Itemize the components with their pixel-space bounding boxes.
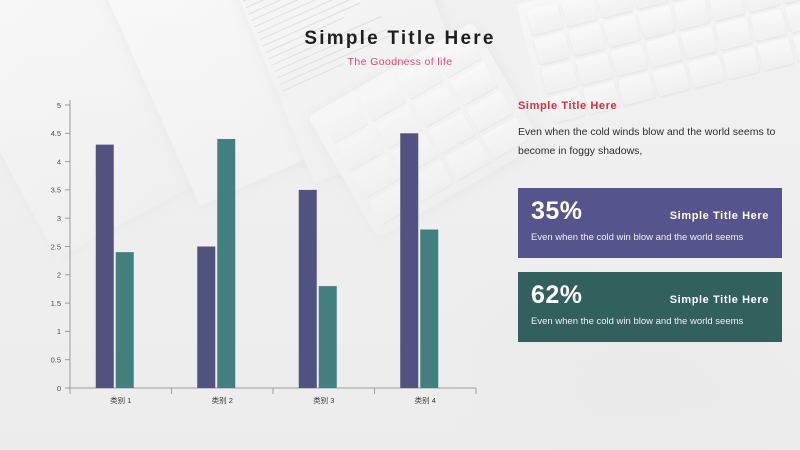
stat-card-header: 35% Simple Title Here	[531, 199, 769, 224]
y-tick-label: 5	[57, 101, 61, 110]
bar-series-group	[96, 133, 439, 388]
y-tick-label: 2.5	[51, 242, 61, 251]
x-axis-ticks	[70, 388, 476, 394]
slide-header: Simple Title Here The Goodness of life	[0, 28, 800, 68]
x-category-label: 类别 4	[415, 395, 436, 405]
page-title: Simple Title Here	[0, 28, 800, 50]
y-tick-label: 1	[57, 327, 61, 336]
right-panel-body-text: Even when the cold winds blow and the wo…	[518, 123, 782, 162]
page-subtitle: The Goodness of life	[0, 56, 800, 68]
right-content-panel: Simple Title Here Even when the cold win…	[518, 100, 782, 342]
y-tick-label: 4	[57, 157, 61, 166]
bar-series2-cat1	[116, 252, 134, 388]
bar-series2-cat3	[319, 286, 337, 388]
y-tick-label: 3.5	[51, 186, 61, 195]
bar-series1-cat1	[96, 145, 114, 388]
x-category-label: 类别 1	[110, 395, 131, 405]
y-axis-ticks: 00.511.522.533.544.55	[51, 101, 70, 393]
bar-chart: 00.511.522.533.544.55 类别 1类别 2类别 3类别 4	[18, 100, 483, 415]
y-tick-label: 0	[57, 384, 61, 393]
stat-title: Simple Title Here	[670, 210, 769, 222]
stat-percent: 62%	[531, 283, 583, 308]
y-tick-label: 2	[57, 271, 61, 280]
right-panel-heading: Simple Title Here	[518, 100, 782, 112]
bar-series1-cat3	[299, 190, 317, 388]
stat-description: Even when the cold win blow and the worl…	[531, 315, 769, 329]
x-category-label: 类别 3	[313, 395, 334, 405]
stat-description: Even when the cold win blow and the worl…	[531, 231, 769, 245]
bar-chart-svg: 00.511.522.533.544.55 类别 1类别 2类别 3类别 4	[18, 100, 483, 415]
bar-series1-cat4	[400, 133, 418, 388]
bar-series2-cat4	[420, 230, 438, 388]
x-axis-category-labels: 类别 1类别 2类别 3类别 4	[110, 395, 436, 405]
bar-series2-cat2	[217, 139, 235, 388]
stat-percent: 35%	[531, 199, 583, 224]
stat-title: Simple Title Here	[670, 294, 769, 306]
y-tick-label: 1.5	[51, 299, 61, 308]
stat-card-62[interactable]: 62% Simple Title Here Even when the cold…	[518, 272, 782, 342]
x-category-label: 类别 2	[212, 395, 233, 405]
stat-card-35[interactable]: 35% Simple Title Here Even when the cold…	[518, 188, 782, 258]
stat-card-header: 62% Simple Title Here	[531, 283, 769, 308]
bar-series1-cat2	[197, 247, 215, 389]
y-tick-label: 4.5	[51, 129, 61, 138]
y-tick-label: 3	[57, 214, 61, 223]
y-tick-label: 0.5	[51, 356, 61, 365]
